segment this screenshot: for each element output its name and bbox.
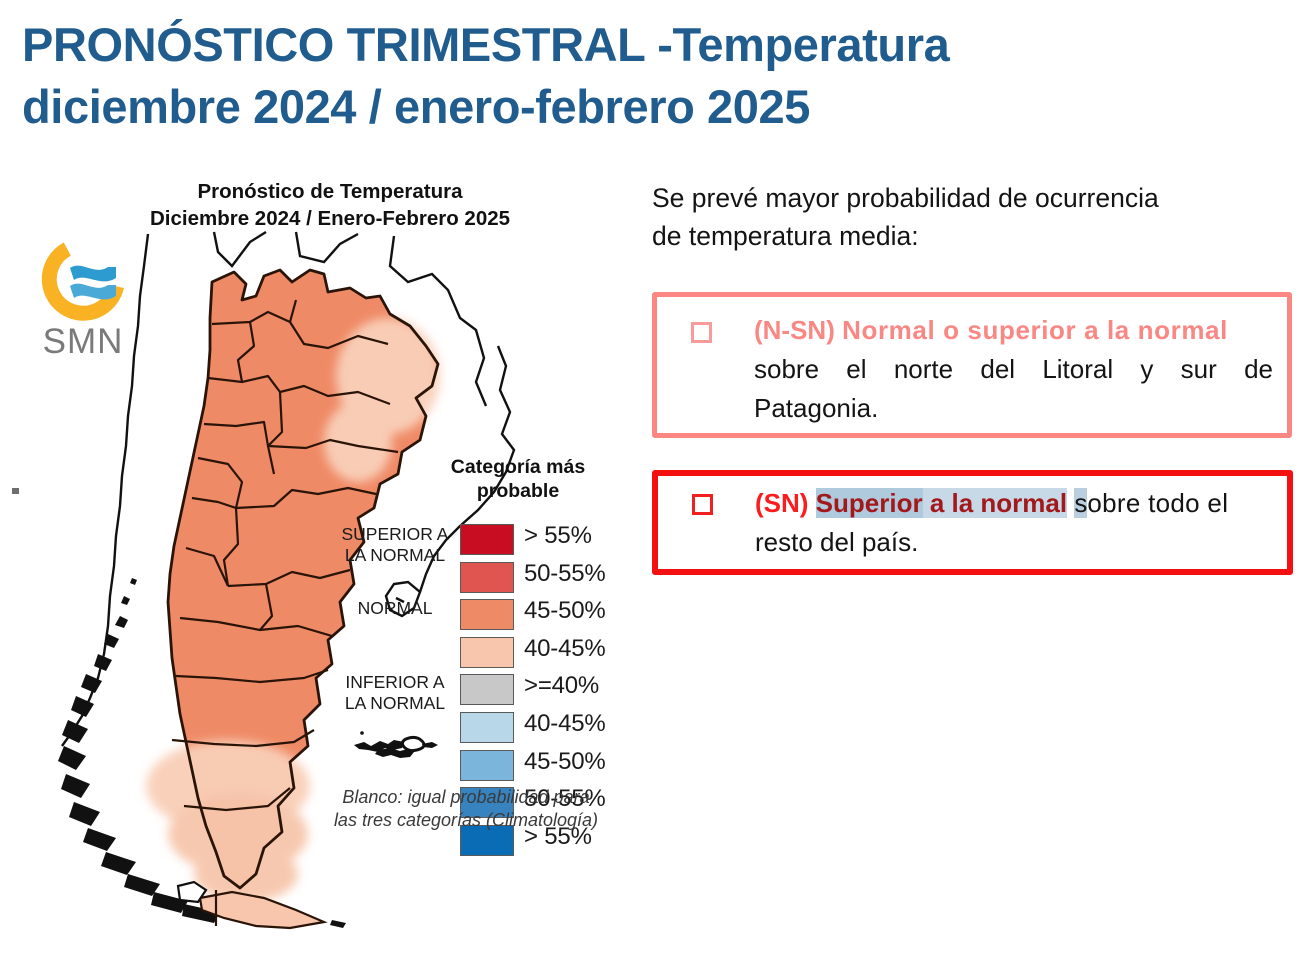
callout-sn-emphasis-b <box>923 488 930 518</box>
legend-row: > 55% <box>338 520 600 558</box>
legend-note-line-2: las tres categorías (Climatología) <box>316 809 616 832</box>
callout-sn-emphasis-a: Superior <box>816 488 923 518</box>
intro-text: Se prevé mayor probabilidad de ocurrenci… <box>652 180 1252 256</box>
callout-sn-rest-s: s <box>1074 488 1087 518</box>
legend-note: Blanco: igual probabilidad para las tres… <box>316 786 616 832</box>
legend-swatch <box>460 637 514 668</box>
callout-nsn-inner: (N-SN) Normal o superior a la normal sob… <box>657 297 1287 433</box>
legend-swatch <box>460 524 514 555</box>
islands-outline-icon <box>348 728 448 762</box>
callout-above-normal: (SN) Superior a la normal sobre todo el … <box>652 470 1293 575</box>
callout-nsn-line-1: (N-SN) Normal o superior a la normal <box>754 311 1273 350</box>
checkbox-empty-icon <box>691 322 712 343</box>
legend-note-line-1: Blanco: igual probabilidad para <box>316 786 616 809</box>
legend-title: Categoría más probable <box>438 456 598 504</box>
legend-row: 40-45% <box>338 633 600 671</box>
callout-nsn-line-3: Patagonia. <box>754 389 1273 428</box>
intro-line-2: de temperatura media: <box>652 218 1252 256</box>
legend-swatch <box>460 562 514 593</box>
legend-label: >=40% <box>524 672 599 700</box>
callout-sn-line-2: resto del país. <box>755 523 1273 562</box>
page-title: PRONÓSTICO TRIMESTRAL -Temperatura dicie… <box>22 14 1142 137</box>
legend-label: 40-45% <box>524 710 606 738</box>
intro-line-1: Se prevé mayor probabilidad de ocurrenci… <box>652 180 1252 218</box>
legend-swatch <box>460 599 514 630</box>
callout-sn-emphasis-c: a la normal <box>930 488 1067 518</box>
map-caption-line-1: Pronóstico de Temperatura <box>120 178 540 205</box>
page-title-line-2: diciembre 2024 / enero-febrero 2025 <box>22 76 1142 138</box>
legend-row: 50-55% <box>338 558 600 596</box>
callout-nsn-tag: (N-SN) <box>754 315 835 345</box>
legend-label: 45-50% <box>524 597 606 625</box>
callout-nsn-emphasis: Normal o superior a la normal <box>842 315 1228 345</box>
legend-title-line-1: Categoría más <box>438 456 598 480</box>
callout-nsn-line-2: sobre el norte del Litoral y sur de <box>754 350 1273 389</box>
legend-label: 45-50% <box>524 748 606 776</box>
page-title-line-1: PRONÓSTICO TRIMESTRAL -Temperatura <box>22 14 1142 76</box>
map-legend: Categoría más probable SUPERIOR A LA NOR… <box>338 456 600 906</box>
islands-icon-svg <box>348 728 448 762</box>
callout-sn-rest-1: obre todo el <box>1087 488 1228 518</box>
legend-row: 45-50% <box>338 595 600 633</box>
slide-root: PRONÓSTICO TRIMESTRAL -Temperatura dicie… <box>0 0 1297 959</box>
legend-swatch <box>460 712 514 743</box>
legend-swatch <box>460 674 514 705</box>
callout-sn-text: (SN) Superior a la normal sobre todo el … <box>755 484 1273 562</box>
legend-label: 50-55% <box>524 560 606 588</box>
callout-sn-tag: (SN) <box>755 488 808 518</box>
map-figure: Pronóstico de Temperatura Diciembre 2024… <box>0 168 605 948</box>
callout-normal-or-above: (N-SN) Normal o superior a la normal sob… <box>652 292 1292 438</box>
forecast-summary-panel: Se prevé mayor probabilidad de ocurrenci… <box>652 180 1297 256</box>
callout-sn-line-1: (SN) Superior a la normal sobre todo el <box>755 484 1273 523</box>
checkbox-empty-icon <box>692 494 713 515</box>
map-caption: Pronóstico de Temperatura Diciembre 2024… <box>120 178 540 232</box>
callout-nsn-text: (N-SN) Normal o superior a la normal sob… <box>754 311 1273 428</box>
callout-sn-inner: (SN) Superior a la normal sobre todo el … <box>658 476 1287 569</box>
legend-swatch <box>460 750 514 781</box>
legend-row: >=40% <box>338 670 600 708</box>
legend-title-line-2: probable <box>438 480 598 504</box>
legend-label: 40-45% <box>524 635 606 663</box>
legend-label: > 55% <box>524 522 592 550</box>
